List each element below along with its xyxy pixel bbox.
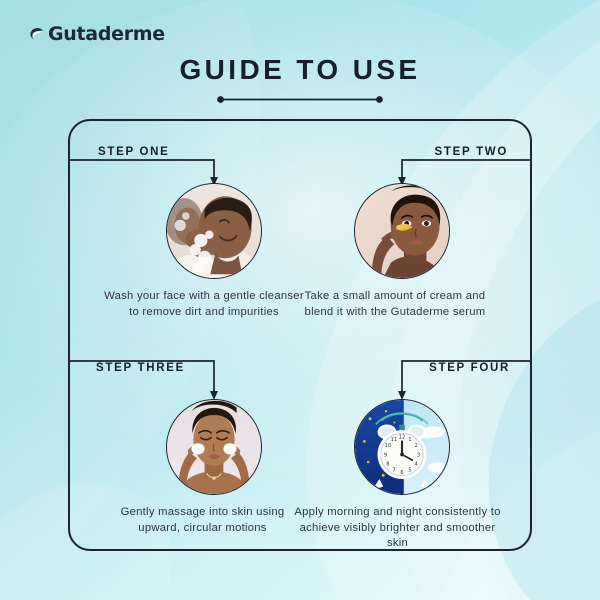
steps-grid: STEP ONE xyxy=(68,119,532,551)
step-caption: Take a small amount of cream and blend i… xyxy=(295,289,495,320)
brand-logo[interactable]: Gutaderme xyxy=(28,25,165,44)
svg-text:10: 10 xyxy=(385,443,391,449)
dotted-divider-icon xyxy=(216,95,384,104)
svg-text:11: 11 xyxy=(391,437,397,443)
woman-applying-cream-photo xyxy=(354,183,450,279)
step-card-two[interactable]: STEP TWO xyxy=(300,119,532,335)
svg-text:9: 9 xyxy=(384,452,387,458)
step-card-four[interactable]: STEP FOUR xyxy=(300,335,532,551)
step-label: STEP THREE xyxy=(96,362,185,374)
step-card-three[interactable]: STEP THREE xyxy=(68,335,300,551)
svg-text:7: 7 xyxy=(392,467,395,473)
swoosh-leaf-icon xyxy=(28,26,45,43)
page-title-block: GUIDE TO USE xyxy=(0,54,600,104)
svg-text:5: 5 xyxy=(408,467,411,473)
woman-washing-face-photo xyxy=(166,183,262,279)
woman-massaging-face-photo xyxy=(166,399,262,495)
step-label: STEP ONE xyxy=(98,146,170,158)
step-label: STEP FOUR xyxy=(429,362,510,374)
svg-text:4: 4 xyxy=(414,461,417,467)
step-label: STEP TWO xyxy=(435,146,508,158)
step-card-one[interactable]: STEP ONE xyxy=(68,119,300,335)
svg-text:12: 12 xyxy=(399,435,405,441)
svg-text:2: 2 xyxy=(414,443,417,449)
brand-name: Gutaderme xyxy=(48,25,165,44)
step-caption: Wash your face with a gentle cleanser to… xyxy=(104,289,304,320)
step-caption: Gently massage into skin using upward, c… xyxy=(100,505,305,536)
svg-text:3: 3 xyxy=(417,452,420,458)
page-title: GUIDE TO USE xyxy=(0,54,600,86)
svg-text:1: 1 xyxy=(408,437,411,443)
step-caption: Apply morning and night consistently to … xyxy=(290,505,505,552)
day-night-alarm-clock-photo: 12 1 2 3 4 5 6 7 8 9 10 11 xyxy=(354,399,450,495)
svg-text:8: 8 xyxy=(386,461,389,467)
svg-text:6: 6 xyxy=(400,470,403,476)
